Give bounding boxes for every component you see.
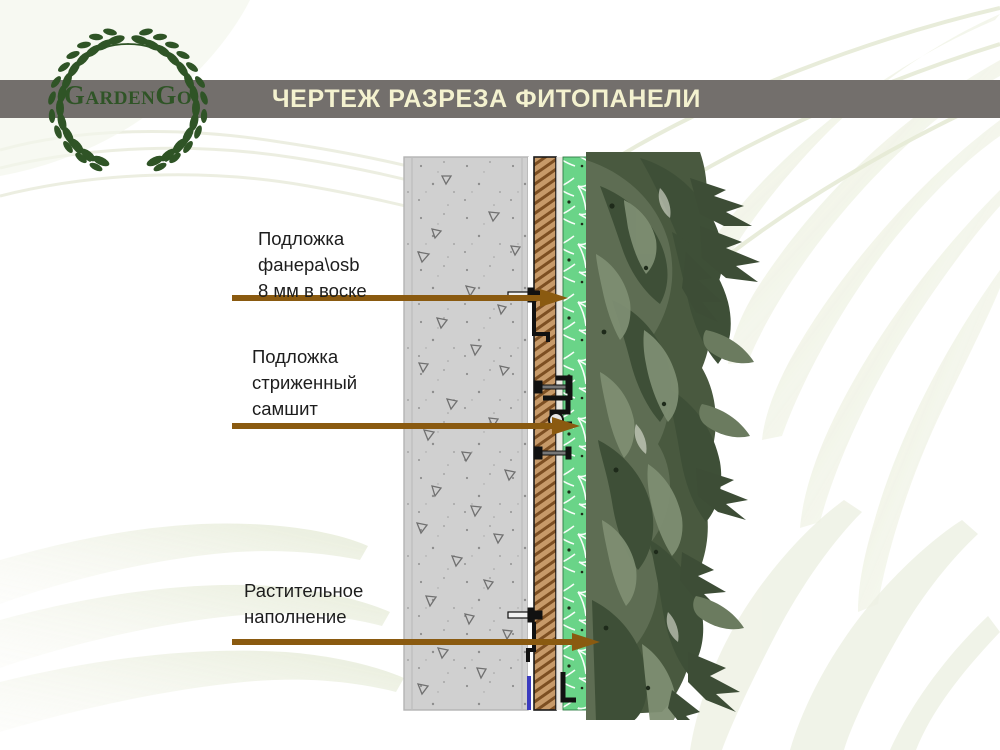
callout-label-plant-fill: Растительное наполнение [244,578,363,630]
brand-wordmark: GardenGo [38,80,218,111]
page-title: ЧЕРТЕЖ РАЗРЕЗА ФИТОПАНЕЛИ [272,82,701,116]
callout-arrow-3 [220,630,612,654]
slide-canvas: Подложка фанера\osb 8 мм в воске Подложк… [0,0,1000,750]
blue-edge-marker [527,676,531,710]
callout-label-substrate-plywood: Подложка фанера\osb 8 мм в воске [258,226,367,304]
callout-label-substrate-boxwood: Подложка стриженный самшит [252,344,357,422]
brand-logo[interactable]: GardenGo [38,28,218,173]
